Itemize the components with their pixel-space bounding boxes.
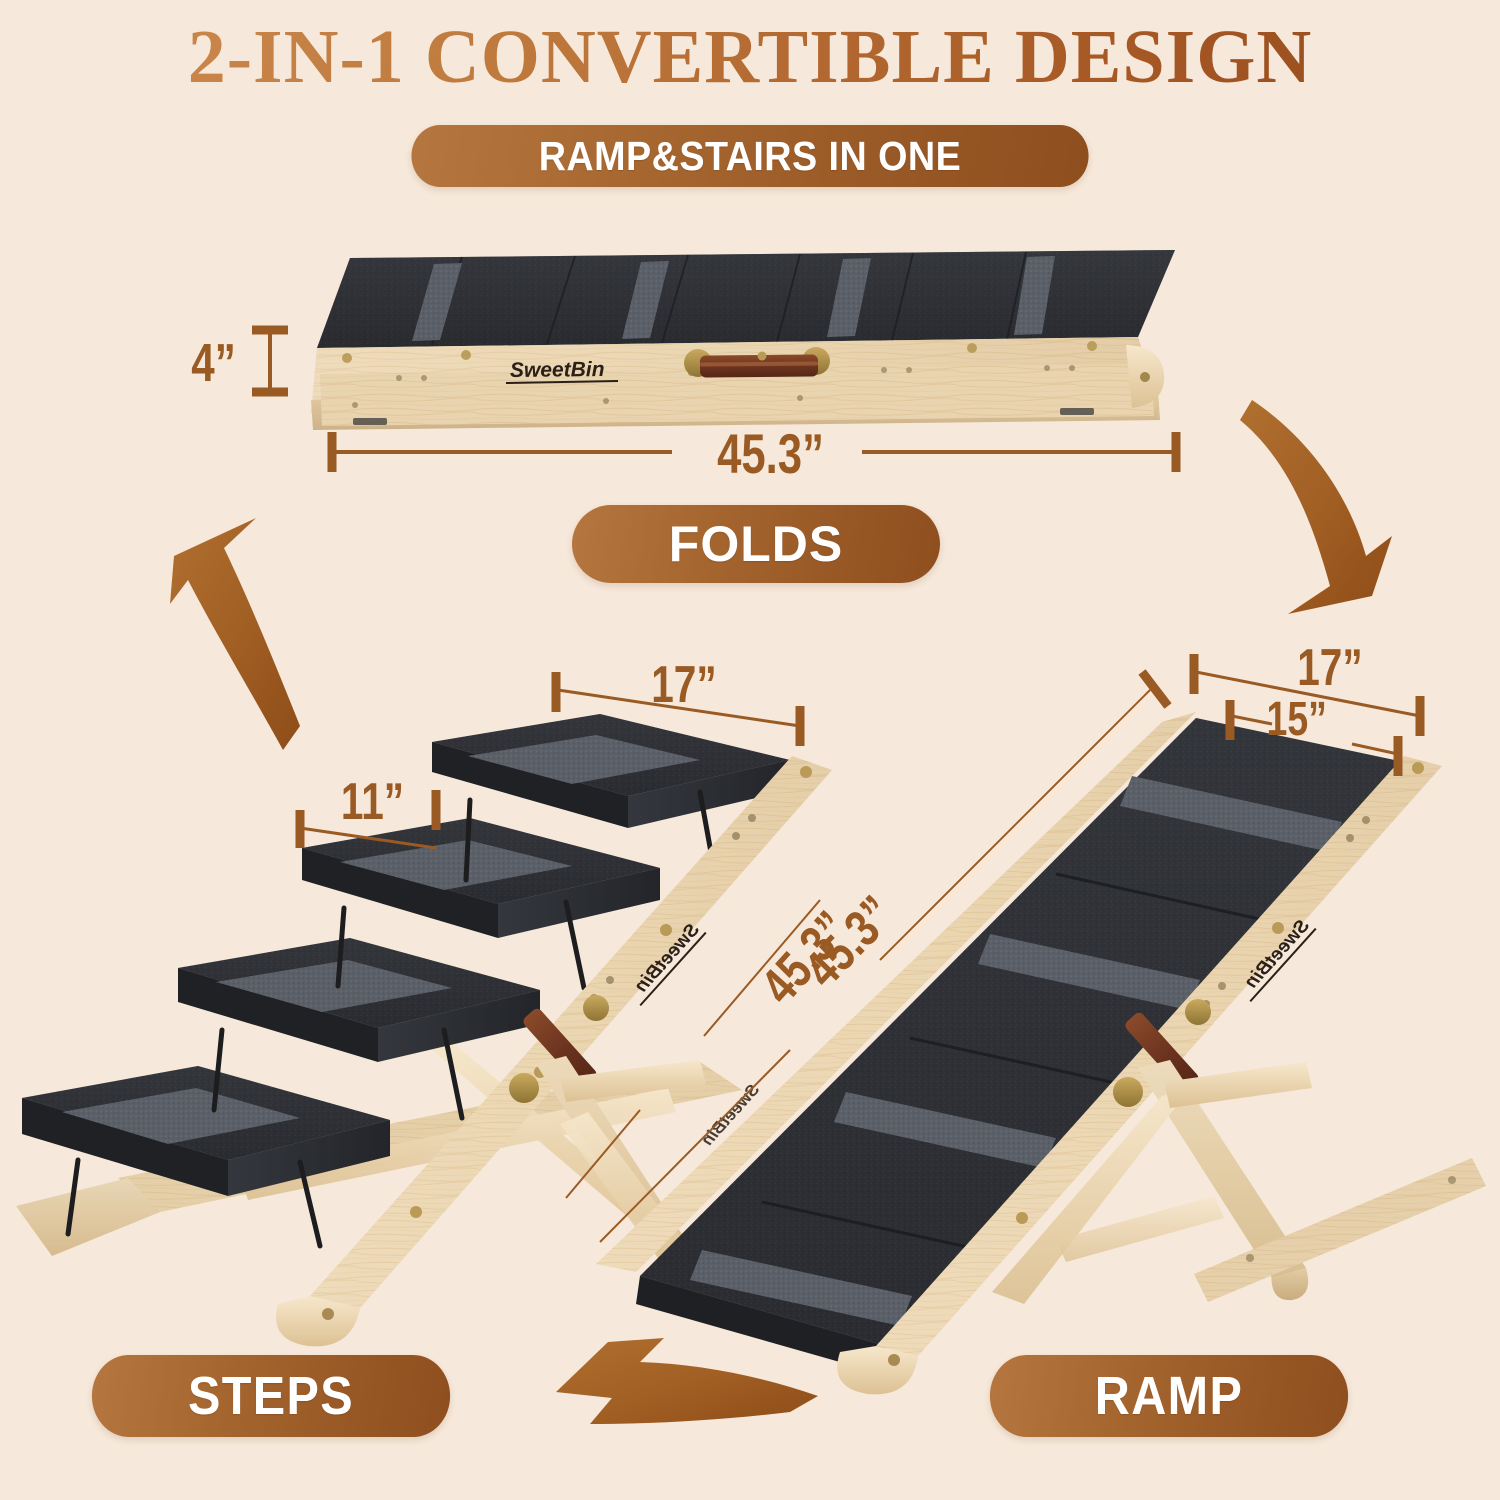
product-illustrations: SweetBin [0, 0, 1500, 1500]
step-tread [178, 938, 540, 1062]
brand-label-ramp-far: SweetBin [698, 1080, 763, 1150]
dimension-folded-length: 45.3” [717, 421, 824, 486]
dimension-folded-height: 4” [191, 332, 235, 394]
steps-product-view: SweetBin [16, 714, 832, 1346]
brand-label-folded: SweetBin [506, 358, 618, 383]
ramp-badge: RAMP [990, 1355, 1348, 1437]
arrow-ramp-to-steps [556, 1338, 818, 1424]
step-tread [432, 714, 790, 828]
svg-text:SweetBin: SweetBin [631, 919, 704, 997]
page-title: 2-IN-1 CONVERTIBLE DESIGN [0, 14, 1500, 101]
step-tread [22, 1066, 390, 1196]
ramp-product-view: SweetBin SweetBin [596, 712, 1486, 1394]
brand-label-ramp: SweetBin [1234, 914, 1316, 1002]
carry-handle [684, 347, 830, 378]
hinge-strap-ramp [1113, 999, 1211, 1107]
ramp-badge-label: RAMP [1095, 1365, 1244, 1427]
folds-badge: FOLDS [572, 505, 940, 583]
infographic-canvas: 2-IN-1 CONVERTIBLE DESIGN RAMP&STAIRS IN… [0, 0, 1500, 1500]
dimension-ramp-outer-width: 17” [1297, 638, 1362, 698]
hinge-strap [509, 995, 609, 1103]
svg-text:SweetBin: SweetBin [1241, 915, 1314, 993]
steps-badge-label: STEPS [188, 1365, 354, 1427]
dimension-steps-depth: 11” [341, 772, 404, 832]
brand-label-steps: SweetBin [624, 918, 706, 1006]
svg-text:SweetBin: SweetBin [698, 1080, 763, 1150]
dimension-steps-top-width: 17” [651, 655, 716, 715]
arrow-to-steps [170, 518, 300, 750]
subtitle-badge-label: RAMP&STAIRS IN ONE [539, 133, 962, 180]
dimension-ramp-inner-width: 15” [1267, 692, 1327, 747]
dimension-lines [252, 330, 1420, 1242]
folded-product-view: SweetBin [311, 250, 1175, 430]
folds-badge-label: FOLDS [669, 515, 843, 573]
svg-text:SweetBin: SweetBin [510, 358, 605, 382]
steps-badge: STEPS [92, 1355, 450, 1437]
subtitle-badge: RAMP&STAIRS IN ONE [411, 125, 1088, 187]
arrow-to-ramp [1240, 400, 1392, 614]
step-tread [302, 818, 660, 938]
